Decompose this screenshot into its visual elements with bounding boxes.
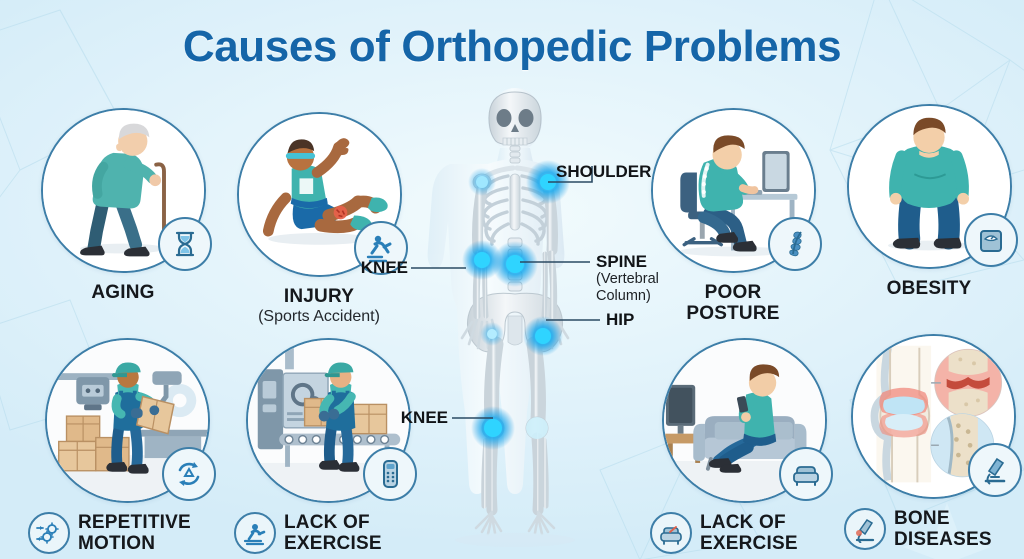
cause-label-line2: EXERCISE — [284, 533, 382, 554]
cause-card-aging[interactable]: AGING — [28, 108, 218, 303]
cause-card-bone-diseases[interactable]: BONE DISEASES — [838, 334, 1024, 551]
cause-card-lack-of-exercise-work[interactable]: LACK OF EXERCISE — [228, 338, 428, 555]
cause-label-line2: POSTURE — [686, 303, 779, 324]
sofa-icon — [650, 512, 692, 554]
gears-arrows-icon — [28, 512, 70, 554]
illustration-circle — [847, 104, 1012, 269]
caption-poor-posture: POOR POSTURE — [638, 282, 828, 325]
illustration-circle — [41, 108, 206, 273]
page-title: Causes of Orthopedic Problems — [0, 22, 1024, 72]
cause-sublabel: (Sports Accident) — [258, 308, 380, 326]
cause-label-line2: MOTION — [78, 533, 191, 554]
caption-injury: INJURY (Sports Accident) — [224, 286, 414, 327]
illustration-circle — [651, 108, 816, 273]
cause-label-line2: DISEASES — [894, 529, 992, 550]
cause-label-line2: EXERCISE — [700, 533, 798, 554]
callout-spine: SPINE (Vertebral Column) — [596, 253, 659, 304]
couch-potato-icon — [234, 512, 276, 554]
caption-aging: AGING — [28, 282, 218, 303]
cause-card-poor-posture[interactable]: POOR POSTURE — [638, 108, 828, 325]
cause-label-line1: POOR — [686, 282, 779, 303]
caption-bone-diseases: BONE DISEASES — [838, 508, 1024, 551]
spine-icon — [768, 217, 822, 271]
weight-scale-icon — [964, 213, 1018, 267]
illustration-circle — [662, 338, 827, 503]
illustration-circle — [45, 338, 210, 503]
callout-hip: HIP — [606, 311, 634, 329]
sofa-icon — [779, 447, 833, 501]
infographic-poster: Causes of Orthopedic Problems — [0, 0, 1024, 559]
cause-label-line1: LACK OF — [284, 512, 382, 533]
human-skeleton-body — [400, 88, 630, 556]
caption-repetitive-motion: REPETITIVE MOTION — [22, 512, 232, 555]
cause-label: OBESITY — [887, 278, 972, 299]
caption-lack-of-exercise-sofa: LACK OF EXERCISE — [644, 512, 844, 555]
cause-card-repetitive-motion[interactable]: REPETITIVE MOTION — [22, 338, 232, 555]
recycle-arrows-icon — [162, 447, 216, 501]
microscope-icon — [968, 443, 1022, 497]
callout-knee-upper: KNEE — [320, 259, 408, 277]
cause-label-line1: LACK OF — [700, 512, 798, 533]
callout-knee-lower: KNEE — [360, 409, 448, 427]
cause-card-obesity[interactable]: OBESITY — [834, 104, 1024, 299]
cause-card-injury[interactable]: INJURY (Sports Accident) — [224, 112, 414, 327]
hourglass-icon — [158, 217, 212, 271]
microscope-icon — [844, 508, 886, 550]
cause-label: INJURY — [258, 286, 380, 307]
callout-shoulder: SHOULDER — [556, 163, 651, 181]
cause-label-line1: BONE — [894, 508, 992, 529]
cause-label-line1: REPETITIVE — [78, 512, 191, 533]
remote-control-icon — [363, 447, 417, 501]
cause-label: AGING — [91, 282, 154, 303]
caption-obesity: OBESITY — [834, 278, 1024, 299]
cause-card-lack-of-exercise-sofa[interactable]: LACK OF EXERCISE — [644, 338, 844, 555]
illustration-circle — [237, 112, 402, 277]
illustration-circle — [851, 334, 1016, 499]
caption-lack-of-exercise-work: LACK OF EXERCISE — [228, 512, 428, 555]
